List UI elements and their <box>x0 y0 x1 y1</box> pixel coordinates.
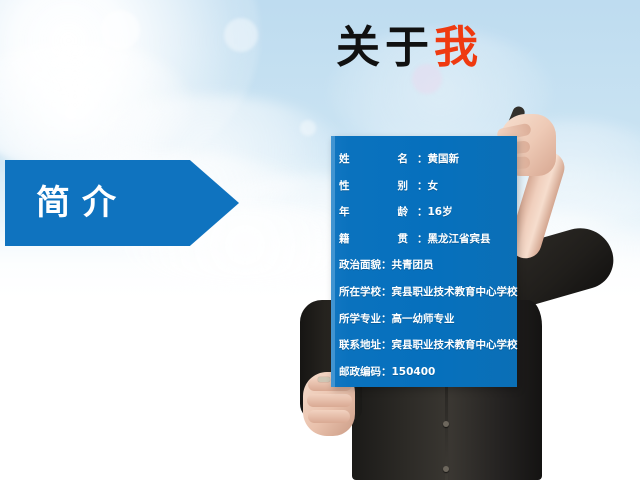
info-card-line-separator: ： <box>417 206 428 218</box>
info-card-line: 年 龄：16岁 <box>339 199 515 226</box>
info-card-line-label: 年 龄 <box>339 206 417 218</box>
info-card-line-separator: ： <box>381 259 392 271</box>
info-card-left-edge <box>331 136 335 387</box>
info-card-line: 性 别：女 <box>339 173 515 200</box>
finger <box>308 410 350 423</box>
info-card-line-label: 政治面貌 <box>339 259 381 271</box>
info-card-line: 邮政编码：150400 <box>339 359 515 386</box>
info-card-line-label: 姓 名 <box>339 153 417 165</box>
info-card-line-separator: ： <box>417 233 428 245</box>
slide-canvas: 关于我 简介 姓 名：黄国新性 别：女年 龄：16岁籍 贯：黑龙江省宾县政治面貌… <box>0 0 640 480</box>
info-card-line-value: 宾县职业技术教育中心学校 <box>392 339 518 351</box>
person-figure <box>0 0 640 480</box>
info-card-line-separator: ： <box>417 153 428 165</box>
info-card-line-separator: ： <box>381 366 392 378</box>
info-card-line-separator: ： <box>381 339 392 351</box>
info-card-line: 籍 贯：黑龙江省宾县 <box>339 226 515 253</box>
info-card-line-label: 所学专业 <box>339 313 381 325</box>
info-card-line-value: 黄国新 <box>428 153 460 165</box>
finger <box>307 394 352 407</box>
info-card-line-label: 所在学校 <box>339 286 381 298</box>
info-card-line-label: 邮政编码 <box>339 366 381 378</box>
info-card-line: 政治面貌：共青团员 <box>339 252 515 279</box>
info-card-line-value: 16岁 <box>428 206 453 218</box>
info-card-line-value: 黑龙江省宾县 <box>428 233 491 245</box>
jacket-button <box>443 466 449 472</box>
info-card-line: 所在学校：宾县职业技术教育中心学校 <box>339 279 515 306</box>
info-card-line-separator: ： <box>381 313 392 325</box>
info-card-line: 所学专业：高一幼师专业 <box>339 306 515 333</box>
info-card-line-value: 女 <box>428 180 439 192</box>
info-card-line-value: 共青团员 <box>392 259 434 271</box>
info-card-line-value: 宾县职业技术教育中心学校 <box>392 286 518 298</box>
info-card-line-separator: ： <box>417 180 428 192</box>
info-card-line-label: 籍 贯 <box>339 233 417 245</box>
info-card-line-value: 高一幼师专业 <box>392 313 455 325</box>
info-card-line: 联系地址：宾县职业技术教育中心学校 <box>339 332 515 359</box>
info-card-line-label: 联系地址 <box>339 339 381 351</box>
info-card-line-label: 性 别 <box>339 180 417 192</box>
info-card-line-separator: ： <box>381 286 392 298</box>
finger-ring <box>318 377 330 382</box>
jacket-button <box>443 421 449 427</box>
info-card-line-value: 150400 <box>392 366 436 378</box>
info-card-line-list: 姓 名：黄国新性 别：女年 龄：16岁籍 贯：黑龙江省宾县政治面貌：共青团员所在… <box>339 146 515 385</box>
info-card-line: 姓 名：黄国新 <box>339 146 515 173</box>
